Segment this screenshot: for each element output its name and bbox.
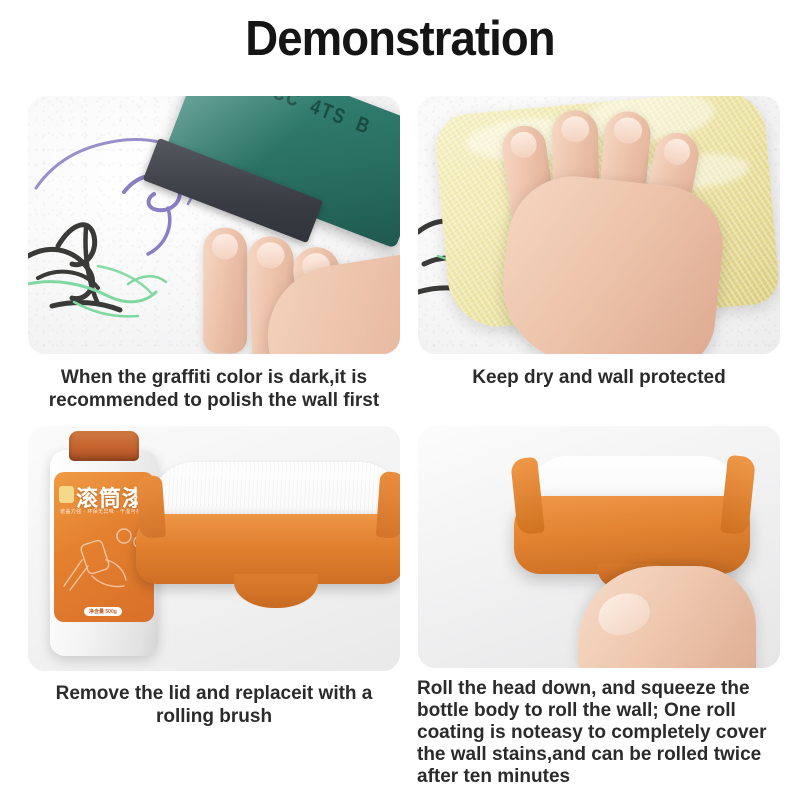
roller-neck xyxy=(234,574,318,608)
label-illustration xyxy=(62,520,146,594)
fingernail xyxy=(662,137,693,168)
finger xyxy=(203,228,247,354)
fingernail xyxy=(561,116,589,142)
label-badge-icon xyxy=(59,486,74,503)
roller-frame xyxy=(514,496,750,574)
panel-polish: QBTAOCC 4TS B xyxy=(28,96,400,354)
fingernail xyxy=(256,242,285,269)
panel-replace-lid-photo: 滚筒漆 遮盖力强 · 环保无异味 · 干湿可擦洗 · 墙面翻新神器 xyxy=(28,426,400,671)
page-title: Demonstration xyxy=(28,14,772,65)
roller-arm-left xyxy=(136,475,166,539)
palm xyxy=(496,170,729,354)
panel-wipe-photo xyxy=(418,96,780,354)
caption-replace-lid: Remove the lid and replaceit with a roll… xyxy=(28,682,400,728)
label-weight-text: 净含量 500g xyxy=(84,607,122,616)
fingernail xyxy=(613,116,643,144)
roller-brush-head xyxy=(136,462,400,632)
fingernail xyxy=(509,130,539,159)
fingernail xyxy=(212,234,238,260)
panel-polish-photo: QBTAOCC 4TS B xyxy=(28,96,400,354)
panel-roll-wall xyxy=(418,426,780,668)
caption-wipe: Keep dry and wall protected xyxy=(418,366,780,389)
thumbnail xyxy=(593,587,655,641)
roller-arm-right xyxy=(376,471,400,539)
panel-wipe xyxy=(418,96,780,354)
panel-replace-lid: 滚筒漆 遮盖力强 · 环保无异味 · 干湿可擦洗 · 墙面翻新神器 xyxy=(28,426,400,671)
hand-wiping xyxy=(490,112,763,354)
bottle-cap xyxy=(69,431,139,461)
panel-roll-wall-photo xyxy=(418,426,780,668)
caption-roll-wall: Roll the head down, and squeeze the bott… xyxy=(417,678,783,788)
caption-polish: When the graffiti color is dark,it is re… xyxy=(28,366,400,412)
